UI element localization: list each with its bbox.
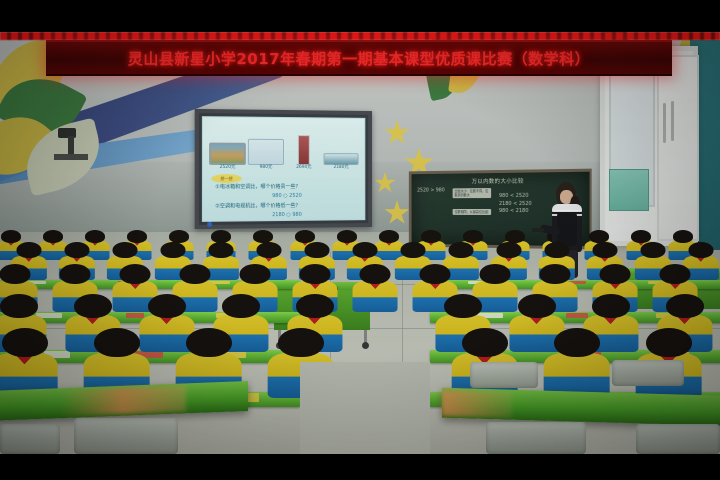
student-head — [463, 230, 483, 243]
slide-price: 2520元 — [209, 166, 246, 170]
student-head — [400, 242, 425, 258]
student-head — [127, 230, 147, 243]
student-head — [592, 294, 630, 318]
blackboard-card: 比较大小：位数不同，位数多的数大 — [453, 188, 491, 198]
student-head — [240, 264, 271, 284]
student-head — [16, 242, 41, 258]
letterbox-bar-bottom — [0, 454, 720, 480]
blackboard-chalk-center: 980 < 2520 2180 < 2520 980 < 2180 — [499, 193, 555, 216]
event-banner-text: 灵山县新星小学2017年春期第一期基本课型优质课比赛（数学科） — [128, 48, 590, 69]
door-panel — [657, 55, 699, 241]
student-head — [148, 294, 186, 318]
student-head — [554, 328, 600, 357]
center-aisle — [300, 362, 430, 454]
student-head — [496, 242, 521, 258]
student-head — [448, 242, 473, 258]
classroom-photo: 灵山县新星小学2017年春期第一期基本课型优质课比赛（数学科） 2520元 98… — [0, 0, 720, 480]
student — [542, 328, 611, 398]
student-head — [278, 328, 324, 357]
desk-highlight — [442, 390, 512, 418]
student-head — [379, 230, 399, 243]
projection-screen: 2520元 980元 2690元 2180元 想一想 — [195, 109, 372, 229]
student-head — [160, 242, 185, 258]
water-heater-icon — [298, 135, 310, 165]
student-head — [60, 264, 91, 284]
door-handle-icon — [671, 101, 674, 141]
student-head — [592, 242, 617, 258]
student-head — [295, 230, 315, 243]
student-head — [1, 230, 21, 243]
screen-indicator-led — [207, 222, 212, 227]
student-head — [444, 294, 482, 318]
lesson-slide: 2520元 980元 2690元 2180元 想一想 — [202, 116, 365, 222]
teacher-vest — [557, 212, 577, 246]
student-head — [518, 294, 556, 318]
blackboard-card: 位数相同，从最高位比起 — [453, 209, 491, 215]
slide-item: 2520元 — [209, 142, 246, 170]
student-head — [420, 264, 451, 284]
student-head — [673, 230, 693, 243]
student-head — [421, 230, 441, 243]
student-head — [0, 294, 38, 318]
student-head — [540, 264, 571, 284]
led-strip — [0, 32, 720, 40]
slide-product-row: 2520元 980元 2690元 2180元 — [209, 125, 358, 170]
student-head — [640, 242, 665, 258]
student-head — [208, 242, 233, 258]
student-head — [505, 230, 525, 243]
student-head — [352, 242, 377, 258]
slide-price: 980元 — [248, 166, 284, 170]
student-head — [64, 242, 89, 258]
slide-item: 2180元 — [324, 153, 359, 170]
student-head — [43, 230, 63, 243]
student-head — [180, 264, 211, 284]
student-head — [660, 264, 691, 284]
letterbox-bar-top — [0, 0, 720, 32]
desk-highlight — [60, 385, 186, 416]
student-head — [688, 242, 713, 258]
student-head — [300, 264, 331, 284]
chair — [636, 424, 720, 454]
chair — [486, 422, 586, 454]
classroom-door — [600, 46, 698, 246]
teal-cabinet — [609, 169, 649, 211]
student-head — [74, 294, 112, 318]
student-head — [0, 264, 31, 284]
student-head — [462, 328, 508, 357]
slide-answer-2: 2180 ○ 980 — [215, 211, 356, 219]
student — [352, 264, 399, 312]
slide-price: 2690元 — [286, 166, 322, 170]
student-head — [544, 242, 569, 258]
student-head — [296, 294, 334, 318]
student-head — [2, 328, 48, 357]
slide-answer-1: 980 ○ 2520 — [215, 193, 356, 200]
slide-item: 980元 — [248, 138, 284, 170]
caster-wheel-icon — [362, 342, 369, 349]
student-head — [666, 294, 704, 318]
slide-item: 2690元 — [286, 135, 322, 170]
student-head — [646, 328, 692, 357]
tv-icon — [209, 142, 246, 164]
chair — [74, 418, 178, 454]
chair — [612, 360, 684, 386]
remote-pointer-icon — [532, 228, 544, 232]
student-head — [253, 230, 273, 243]
student-head — [94, 328, 140, 357]
student-head — [120, 264, 151, 284]
student-head — [337, 230, 357, 243]
student-head — [256, 242, 281, 258]
student-head — [169, 230, 189, 243]
air-conditioner-icon — [324, 153, 359, 165]
student-head — [631, 230, 651, 243]
student-head — [186, 328, 232, 357]
slide-question-2: ②空调和电视机比，哪个价格低一些？ — [215, 202, 356, 210]
student-head — [304, 242, 329, 258]
student-head — [112, 242, 137, 258]
slide-question-1: ①电冰箱和空调比，哪个价格贵一些？ — [215, 184, 356, 191]
student-head — [480, 264, 511, 284]
student-head — [589, 230, 609, 243]
student — [0, 328, 59, 398]
projector-base — [54, 154, 88, 160]
student-head — [360, 264, 391, 284]
student-head — [211, 230, 231, 243]
student-head — [85, 230, 105, 243]
student-head — [222, 294, 260, 318]
event-banner: 灵山县新星小学2017年春期第一期基本课型优质课比赛（数学科） — [46, 40, 672, 76]
chair — [0, 424, 60, 454]
chair — [470, 362, 538, 388]
student-head — [600, 264, 631, 284]
classroom-scene: 灵山县新星小学2017年春期第一期基本课型优质课比赛（数学科） 2520元 98… — [0, 32, 720, 454]
door-handle-icon — [663, 103, 666, 143]
fridge-icon — [248, 138, 284, 164]
blackboard-chalk-left: 2520 > 980 — [417, 187, 449, 195]
slide-tag: 想一想 — [211, 174, 242, 183]
slide-price: 2180元 — [324, 166, 359, 170]
